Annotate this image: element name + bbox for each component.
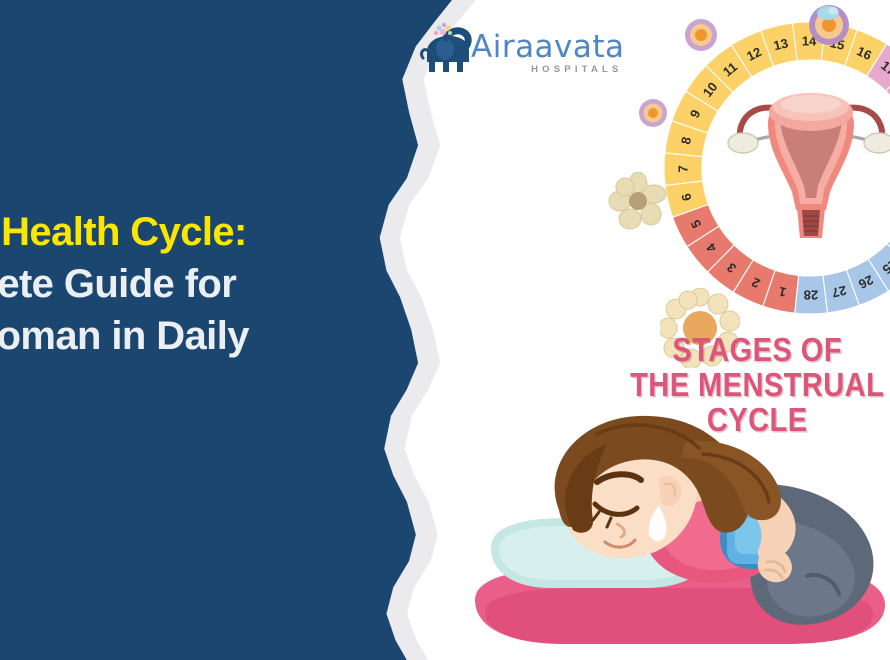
illustration-title-line2: THE MENSTRUAL: [612, 367, 890, 402]
logo-name: Airaavata: [471, 31, 625, 63]
ovum-cell-icon: [684, 18, 718, 52]
ovum-cell-icon: [806, 0, 852, 46]
illustration-title-line1: STAGES OF: [612, 332, 890, 367]
cycle-day-label: 7: [675, 165, 690, 172]
elephant-icon: [415, 22, 477, 84]
illustration-title-line3: CYCLE: [612, 402, 890, 437]
menstrual-cycle-wheel: 1234567891011121314151617181920212223242…: [660, 18, 890, 318]
follicle-icon: [608, 172, 668, 232]
cycle-day-label: 28: [804, 287, 819, 302]
brand-logo[interactable]: Airaavata HOSPITALS: [415, 12, 630, 94]
headline-line-2: mplete Guide for: [0, 258, 398, 310]
headline-line-3: y Woman in Daily: [0, 310, 398, 362]
headline: d & Health Cycle: mplete Guide for y Wom…: [0, 206, 398, 362]
ovum-cell-icon: [638, 98, 668, 128]
logo-wordmark: Airaavata HOSPITALS: [471, 31, 625, 75]
logo-subtitle: HOSPITALS: [471, 64, 623, 75]
headline-line-1: d & Health Cycle:: [0, 206, 398, 258]
illustration-title: STAGES OF THE MENSTRUAL CYCLE: [612, 332, 890, 437]
banner-canvas: 1234567891011121314151617181920212223242…: [0, 0, 890, 660]
sleeping-woman-illustration: [455, 400, 890, 660]
uterus-diagram-icon: [718, 80, 890, 242]
